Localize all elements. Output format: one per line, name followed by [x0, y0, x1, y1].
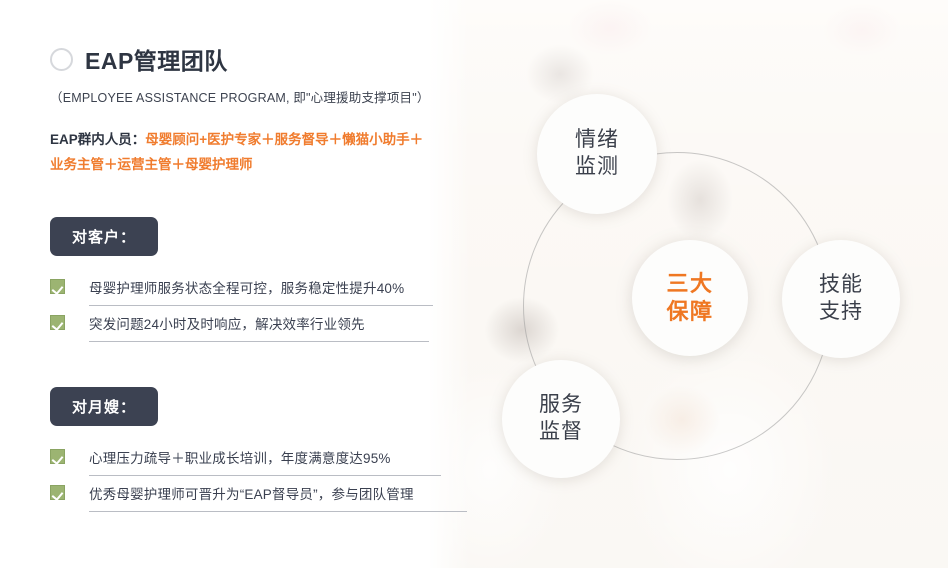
check-icon: [50, 279, 65, 294]
circle-outline-icon: [50, 48, 73, 71]
list-item[interactable]: 优秀母婴护理师可晋升为“EAP督导员”，参与团队管理: [50, 480, 467, 516]
members-label: EAP群内人员：: [50, 132, 145, 147]
content-column: EAP管理团队 （EMPLOYEE ASSISTANCE PROGRAM, 即"…: [50, 0, 450, 178]
bubble-service-line2: 监督: [539, 419, 583, 446]
list-item[interactable]: 母婴护理师服务状态全程可控，服务稳定性提升40%: [50, 274, 433, 310]
client-benefit-list: 母婴护理师服务状态全程可控，服务稳定性提升40% 突发问题24小时及时响应，解决…: [50, 274, 433, 346]
list-item-cell: 心理压力疏导＋职业成长培训，年度满意度达95%: [89, 444, 441, 476]
page-title: EAP管理团队: [85, 42, 228, 76]
bubble-emotion-line1: 情绪: [575, 127, 619, 154]
check-icon: [50, 315, 65, 330]
list-item-label: 心理压力疏导＋职业成长培训，年度满意度达95%: [89, 451, 391, 466]
section-for-nannies: 对月嫂： 心理压力疏导＋职业成长培训，年度满意度达95% 优秀母婴护理师可晋升为…: [50, 387, 467, 516]
list-item-label: 母婴护理师服务状态全程可控，服务稳定性提升40%: [89, 281, 404, 296]
badge-for-clients: 对客户：: [50, 217, 158, 256]
bubble-skill-line1: 技能: [819, 272, 863, 299]
bubble-three-guarantees[interactable]: 三大 保障: [632, 240, 748, 356]
bubble-emotion-line2: 监测: [575, 154, 619, 181]
bubble-center-line1: 三大: [666, 270, 713, 298]
members-line: EAP群内人员：母婴顾问+医护专家＋服务督导＋懒猫小助手＋业务主管＋运营主管＋母…: [50, 128, 425, 178]
check-icon: [50, 485, 65, 500]
check-icon: [50, 449, 65, 464]
slide-root: 情绪 监测 技能 支持 服务 监督 三大 保障 EAP管理团队 （EMPLOYE…: [0, 0, 948, 568]
list-item-label: 优秀母婴护理师可晋升为“EAP督导员”，参与团队管理: [89, 487, 414, 502]
bubble-emotion-monitoring[interactable]: 情绪 监测: [537, 94, 657, 214]
nanny-benefit-list: 心理压力疏导＋职业成长培训，年度满意度达95% 优秀母婴护理师可晋升为“EAP督…: [50, 444, 467, 516]
list-item-label: 突发问题24小时及时响应，解决效率行业领先: [89, 317, 365, 332]
bubble-skill-support[interactable]: 技能 支持: [782, 240, 900, 358]
left-content-panel: EAP管理团队 （EMPLOYEE ASSISTANCE PROGRAM, 即"…: [0, 0, 430, 568]
badge-for-nannies: 对月嫂：: [50, 387, 158, 426]
page-subtitle: （EMPLOYEE ASSISTANCE PROGRAM, 即"心理援助支撑项目…: [50, 87, 450, 106]
list-item[interactable]: 突发问题24小时及时响应，解决效率行业领先: [50, 310, 433, 346]
list-item-cell: 母婴护理师服务状态全程可控，服务稳定性提升40%: [89, 274, 433, 306]
list-item-cell: 优秀母婴护理师可晋升为“EAP督导员”，参与团队管理: [89, 480, 467, 512]
bubble-skill-line2: 支持: [819, 299, 863, 326]
list-item-cell: 突发问题24小时及时响应，解决效率行业领先: [89, 310, 429, 342]
bubble-service-line1: 服务: [539, 392, 583, 419]
bubble-center-line2: 保障: [666, 298, 713, 326]
page-title-row: EAP管理团队: [50, 42, 450, 76]
section-for-clients: 对客户： 母婴护理师服务状态全程可控，服务稳定性提升40% 突发问题24小时及时…: [50, 217, 433, 346]
bubble-service-supervision[interactable]: 服务 监督: [502, 360, 620, 478]
list-item[interactable]: 心理压力疏导＋职业成长培训，年度满意度达95%: [50, 444, 467, 480]
